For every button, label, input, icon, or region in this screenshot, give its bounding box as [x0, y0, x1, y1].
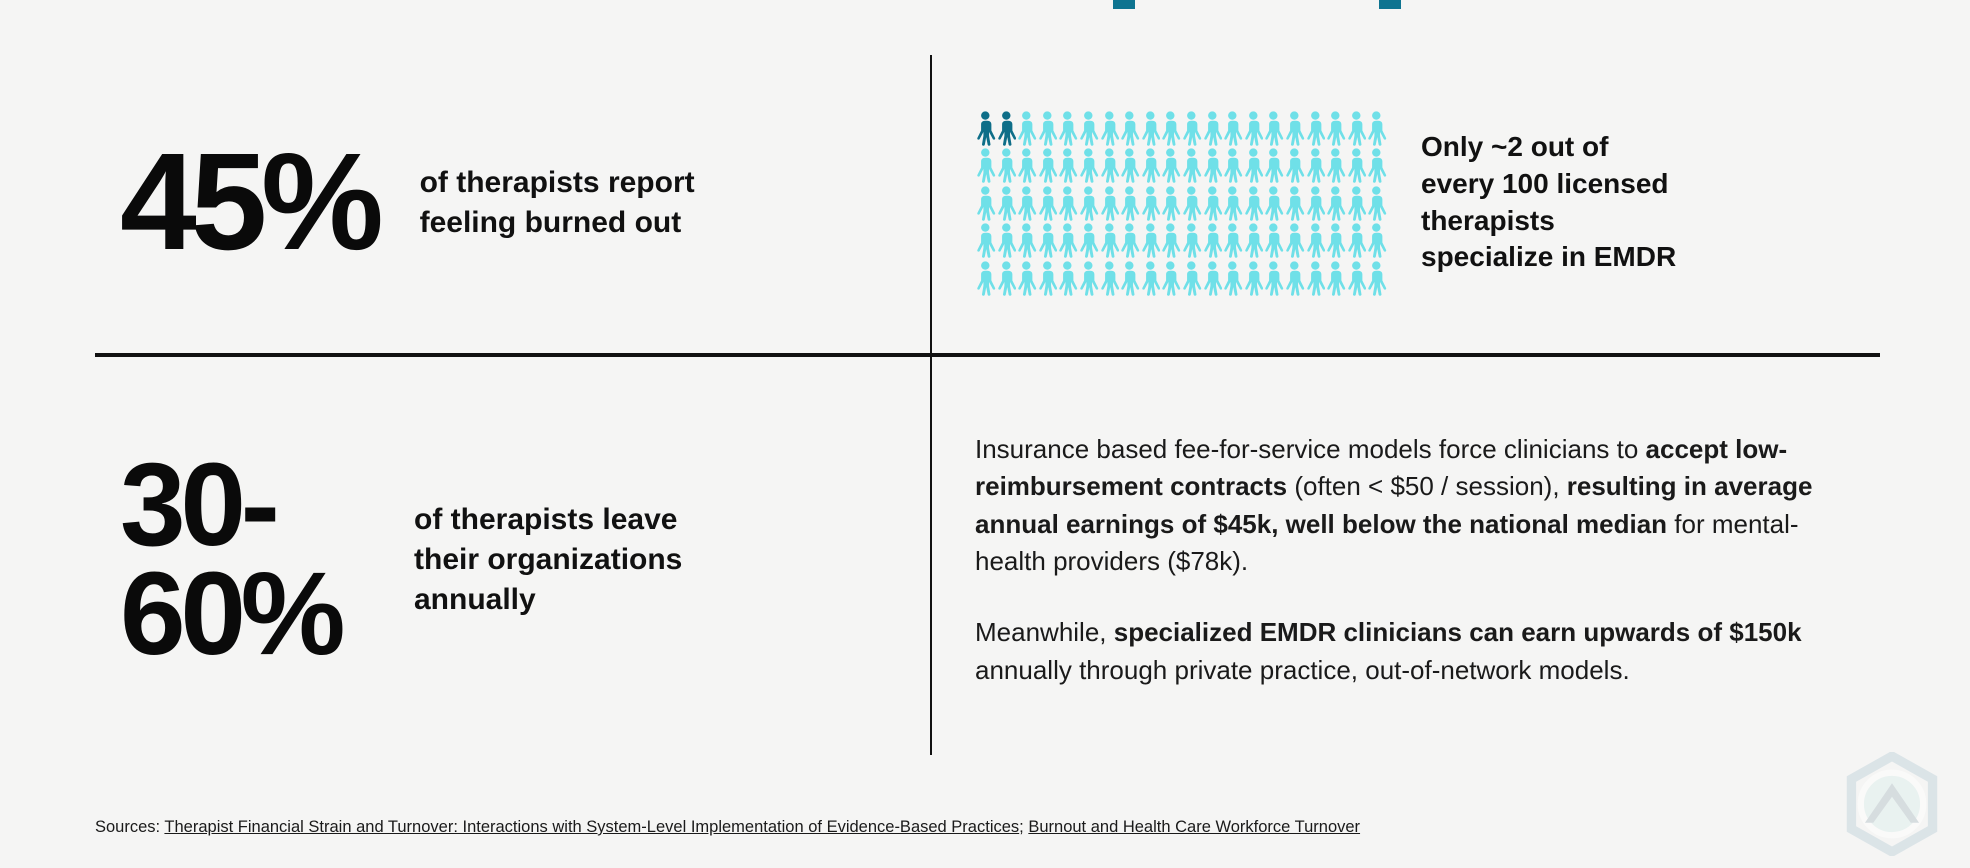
person-icon [1078, 259, 1099, 297]
source-link[interactable]: Burnout and Health Care Workforce Turnov… [1028, 818, 1360, 836]
person-icon [1346, 109, 1367, 147]
person-icon [1284, 146, 1305, 184]
person-icon [1160, 259, 1181, 297]
person-icon [1305, 259, 1326, 297]
person-icon [1366, 259, 1387, 297]
finance-paragraph-two: Meanwhile, specialized EMDR clinicians c… [975, 614, 1855, 689]
person-icon [1078, 109, 1099, 147]
person-icon [1037, 259, 1058, 297]
person-icon [1243, 109, 1264, 147]
person-icon [1160, 221, 1181, 259]
person-icon [1016, 184, 1037, 222]
person-icon [1202, 184, 1223, 222]
person-icon [1119, 184, 1140, 222]
person-icon [1263, 221, 1284, 259]
sources-separator: ; [1019, 818, 1028, 836]
stat-block-burnout: 45% of therapists report feeling burned … [120, 70, 910, 335]
person-icon [1099, 184, 1120, 222]
person-icon [1037, 221, 1058, 259]
person-icon [1099, 259, 1120, 297]
person-icon [1346, 184, 1367, 222]
person-icon [1119, 109, 1140, 147]
person-icon [996, 146, 1017, 184]
person-icon [1181, 184, 1202, 222]
person-icon [975, 146, 996, 184]
person-icon [1284, 221, 1305, 259]
person-icon [1222, 146, 1243, 184]
title-fragment-left [1113, 0, 1135, 9]
person-icon [1325, 146, 1346, 184]
person-icon [1057, 109, 1078, 147]
person-icon [1202, 221, 1223, 259]
person-icon [1346, 221, 1367, 259]
person-icon [1016, 221, 1037, 259]
person-icon [1078, 221, 1099, 259]
person-icon [1263, 109, 1284, 147]
person-icon [1140, 259, 1161, 297]
finance-text-block: Insurance based fee-for-service models f… [975, 375, 1905, 745]
person-icon [1305, 146, 1326, 184]
person-icon [1305, 184, 1326, 222]
person-icon [1181, 221, 1202, 259]
person-icon [1325, 109, 1346, 147]
person-icon [1325, 221, 1346, 259]
person-icon [1366, 184, 1387, 222]
person-icon [1057, 184, 1078, 222]
person-icon [1037, 146, 1058, 184]
sources-footer: Sources: Therapist Financial Strain and … [95, 818, 1360, 837]
stat-turnover-caption: of therapists leave their organizations … [414, 500, 744, 620]
person-icon [1181, 259, 1202, 297]
person-icon [1366, 109, 1387, 147]
person-icon [996, 184, 1017, 222]
person-icon [1284, 259, 1305, 297]
person-icon [1078, 146, 1099, 184]
person-icon [1160, 184, 1181, 222]
person-icon [1119, 146, 1140, 184]
person-icon [1140, 221, 1161, 259]
brand-logo-watermark [1838, 752, 1946, 856]
stat-block-turnover: 30- 60% of therapists leave their organi… [120, 375, 910, 745]
stat-turnover-number: 30- 60% [120, 451, 370, 668]
person-icon [1284, 109, 1305, 147]
person-icon [975, 259, 996, 297]
person-icon [1160, 146, 1181, 184]
person-icon [1202, 259, 1223, 297]
person-icon [1037, 109, 1058, 147]
stat-burnout-caption: of therapists report feeling burned out [420, 163, 750, 243]
person-icon [1263, 259, 1284, 297]
person-icon [1243, 146, 1264, 184]
person-icon [1119, 221, 1140, 259]
person-icon [1305, 109, 1326, 147]
source-link[interactable]: Therapist Financial Strain and Turnover:… [164, 818, 1019, 836]
person-icon [1202, 109, 1223, 147]
person-icon [1325, 259, 1346, 297]
person-icon [996, 259, 1017, 297]
person-icon [1366, 146, 1387, 184]
person-icon [1222, 259, 1243, 297]
person-icon [996, 109, 1017, 147]
person-icon [1181, 146, 1202, 184]
person-icon [975, 109, 996, 147]
person-icon [975, 221, 996, 259]
person-icon [1222, 109, 1243, 147]
person-icon [1325, 184, 1346, 222]
title-fragment-right [1379, 0, 1401, 9]
person-icon [1099, 221, 1120, 259]
person-icon [1284, 184, 1305, 222]
person-icon [996, 221, 1017, 259]
person-icon [1366, 221, 1387, 259]
person-icon [1243, 184, 1264, 222]
divider-vertical [930, 55, 932, 755]
person-icon [1243, 221, 1264, 259]
person-icon [1099, 146, 1120, 184]
pictogram-grid [975, 109, 1387, 297]
person-icon [1057, 221, 1078, 259]
finance-paragraph-one: Insurance based fee-for-service models f… [975, 431, 1855, 581]
stat-burnout-number: 45% [120, 139, 378, 266]
person-icon [1346, 259, 1367, 297]
person-icon [1016, 146, 1037, 184]
person-icon [1160, 109, 1181, 147]
logo-circle-icon [1861, 773, 1923, 835]
person-icon [1222, 221, 1243, 259]
person-icon [1037, 184, 1058, 222]
person-icon [1057, 259, 1078, 297]
person-icon [1263, 146, 1284, 184]
pictogram-block-emdr: Only ~2 out of every 100 licensed therap… [975, 70, 1905, 335]
person-icon [1181, 109, 1202, 147]
person-icon [1140, 146, 1161, 184]
divider-horizontal [95, 353, 1880, 357]
person-icon [1078, 184, 1099, 222]
person-icon [1263, 184, 1284, 222]
person-icon [975, 184, 996, 222]
person-icon [1057, 146, 1078, 184]
person-icon [1305, 221, 1326, 259]
person-icon [1016, 259, 1037, 297]
person-icon [1119, 259, 1140, 297]
person-icon [1202, 146, 1223, 184]
person-icon [1140, 184, 1161, 222]
pictogram-caption: Only ~2 out of every 100 licensed therap… [1421, 129, 1683, 277]
person-icon [1140, 109, 1161, 147]
person-icon [1222, 184, 1243, 222]
person-icon [1346, 146, 1367, 184]
person-icon [1243, 259, 1264, 297]
sources-label: Sources: [95, 818, 160, 836]
person-icon [1016, 109, 1037, 147]
person-icon [1099, 109, 1120, 147]
